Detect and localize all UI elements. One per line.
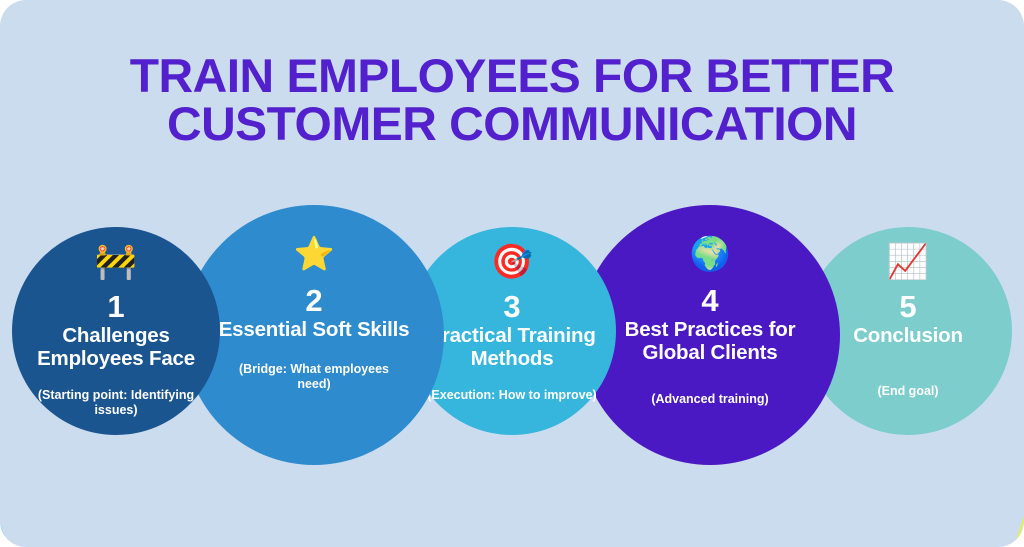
step-note-5: (End goal) bbox=[877, 384, 938, 399]
construction-barrier-icon: 🚧 bbox=[95, 245, 137, 281]
step-number-2: 2 bbox=[305, 285, 322, 318]
step-number-3: 3 bbox=[503, 291, 520, 324]
star-icon: ⭐ bbox=[293, 237, 334, 273]
step-note-3: (Execution: How to improve) bbox=[427, 388, 596, 403]
step-number-1: 1 bbox=[107, 291, 124, 324]
step-note-4: (Advanced training) bbox=[651, 392, 768, 407]
step-number-5: 5 bbox=[899, 291, 916, 324]
globe-earth-icon: 🌍 bbox=[689, 237, 730, 273]
step-label-5: Conclusion bbox=[853, 325, 963, 348]
step-label-4: Best Practices for Global Clients bbox=[603, 319, 818, 365]
step-note-2: (Bridge: What employees need) bbox=[224, 362, 404, 392]
step-number-4: 4 bbox=[701, 285, 718, 318]
step-circle-2[interactable]: ⭐ 2 Essential Soft Skills (Bridge: What … bbox=[184, 205, 444, 465]
target-dart-icon: 🎯 bbox=[491, 245, 533, 281]
infographic-canvas: TRAIN EMPLOYEES FOR BETTER CUSTOMER COMM… bbox=[0, 0, 1024, 547]
step-label-1: Challenges Employees Face bbox=[19, 325, 214, 371]
step-label-2: Essential Soft Skills bbox=[219, 319, 410, 342]
step-circle-4[interactable]: 🌍 4 Best Practices for Global Clients (A… bbox=[580, 205, 840, 465]
step-circle-1[interactable]: 🚧 1 Challenges Employees Face (Starting … bbox=[12, 227, 220, 435]
steps-row: 🚧 1 Challenges Employees Face (Starting … bbox=[0, 0, 1024, 547]
chart-increasing-icon: 📈 bbox=[887, 245, 929, 281]
step-note-1: (Starting point: Identifying issues) bbox=[26, 388, 206, 418]
